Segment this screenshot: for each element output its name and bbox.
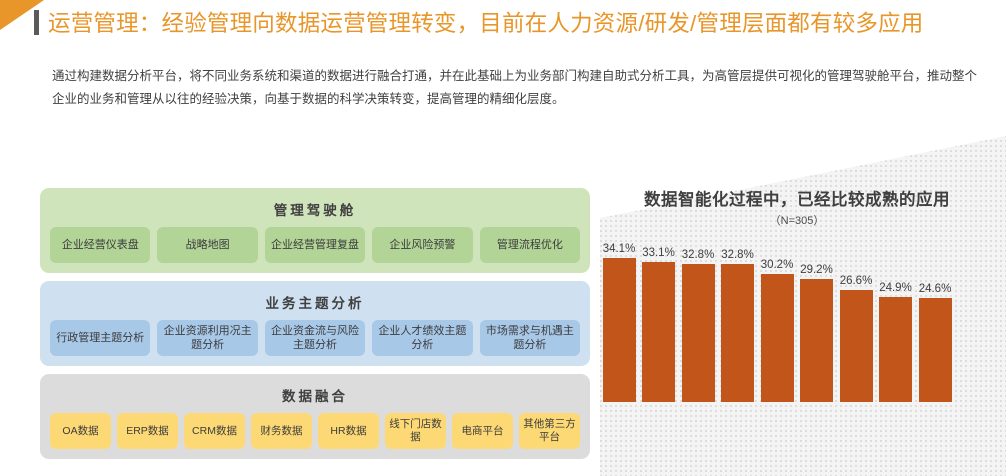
band-title: 管理驾驶舱 — [50, 195, 580, 227]
chip-item[interactable]: CRM数据 — [184, 413, 245, 449]
bar-value-label: 32.8% — [682, 249, 715, 261]
chip-item[interactable]: 市场需求与机遇主题分析 — [480, 320, 580, 356]
chip-item[interactable]: 财务数据 — [251, 413, 312, 449]
chart-plot-area: 34.1%33.1%32.8%32.8%30.2%29.2%26.6%24.9%… — [596, 202, 998, 402]
bar-rect[interactable] — [800, 279, 833, 402]
diagram-band-data-fusion: 数据融合 OA数据 ERP数据 CRM数据 财务数据 HR数据 线下门店数据 电… — [40, 374, 590, 459]
bar-value-label: 34.1% — [603, 243, 636, 255]
bar-rect[interactable] — [642, 262, 675, 402]
chip-item[interactable]: 企业资源利用况主题分析 — [157, 320, 257, 356]
chip-item[interactable]: 电商平台 — [452, 413, 513, 449]
bar-column[interactable]: 29.2% — [799, 202, 835, 402]
bar-rect[interactable] — [682, 264, 715, 403]
chip-item[interactable]: OA数据 — [50, 413, 111, 449]
bar-rect[interactable] — [761, 274, 794, 402]
header-accent-bar — [34, 10, 39, 35]
chip-item[interactable]: ERP数据 — [117, 413, 178, 449]
chip-item[interactable]: 企业经营管理复盘 — [265, 227, 365, 263]
bar-value-label: 26.6% — [840, 275, 873, 287]
bar-value-label: 32.8% — [721, 249, 754, 261]
bar-rect[interactable] — [721, 264, 754, 403]
bar-column[interactable]: 32.8% — [680, 202, 716, 402]
bar-column[interactable]: 24.6% — [917, 202, 953, 402]
bar-chart: 数据智能化过程中，已经比较成熟的应用 （N=305） 34.1%33.1%32.… — [596, 186, 998, 466]
bar-rect[interactable] — [879, 297, 912, 402]
bar-value-label: 24.6% — [919, 283, 952, 295]
architecture-diagram: 管理驾驶舱 企业经营仪表盘 战略地图 企业经营管理复盘 企业风险预警 管理流程优… — [40, 188, 590, 467]
band-chip-row: 行政管理主题分析 企业资源利用况主题分析 企业资金流与风险主题分析 企业人才绩效… — [50, 320, 580, 356]
chip-item[interactable]: 企业资金流与风险主题分析 — [265, 320, 365, 356]
bar-column[interactable]: 33.1% — [641, 202, 677, 402]
bar-value-label: 33.1% — [642, 247, 675, 259]
body-paragraph: 通过构建数据分析平台，将不同业务系统和渠道的数据进行融合打通，并在此基础上为业务… — [52, 65, 977, 111]
band-chip-row: 企业经营仪表盘 战略地图 企业经营管理复盘 企业风险预警 管理流程优化 — [50, 227, 580, 263]
diagram-band-business-analysis: 业务主题分析 行政管理主题分析 企业资源利用况主题分析 企业资金流与风险主题分析… — [40, 281, 590, 366]
chip-item[interactable]: 行政管理主题分析 — [50, 320, 150, 356]
band-chip-row: OA数据 ERP数据 CRM数据 财务数据 HR数据 线下门店数据 电商平台 其… — [50, 413, 580, 449]
band-title: 业务主题分析 — [50, 288, 580, 320]
band-title: 数据融合 — [50, 381, 580, 413]
bar-column[interactable]: 24.9% — [878, 202, 914, 402]
bar-value-label: 29.2% — [800, 264, 833, 276]
bar-column[interactable]: 34.1% — [601, 202, 637, 402]
slide-canvas: 运营管理：经验管理向数据运营管理转变，目前在人力资源/研发/管理层面都有较多应用… — [0, 0, 1006, 476]
chip-item[interactable]: 战略地图 — [157, 227, 257, 263]
chip-item[interactable]: 管理流程优化 — [480, 227, 580, 263]
diagram-band-cockpit: 管理驾驶舱 企业经营仪表盘 战略地图 企业经营管理复盘 企业风险预警 管理流程优… — [40, 188, 590, 273]
chip-item[interactable]: 企业风险预警 — [372, 227, 472, 263]
chip-item[interactable]: 企业经营仪表盘 — [50, 227, 150, 263]
bar-rect[interactable] — [919, 298, 952, 402]
bar-column[interactable]: 26.6% — [838, 202, 874, 402]
bar-value-label: 30.2% — [761, 259, 794, 271]
page-title: 运营管理：经验管理向数据运营管理转变，目前在人力资源/研发/管理层面都有较多应用 — [48, 6, 924, 38]
bar-value-label: 24.9% — [879, 282, 912, 294]
chip-item[interactable]: HR数据 — [318, 413, 379, 449]
bar-rect[interactable] — [603, 258, 636, 402]
bar-column[interactable]: 30.2% — [759, 202, 795, 402]
page-header: 运营管理：经验管理向数据运营管理转变，目前在人力资源/研发/管理层面都有较多应用 — [34, 6, 924, 38]
bar-column[interactable]: 32.8% — [720, 202, 756, 402]
chip-item[interactable]: 其他第三方平台 — [519, 413, 580, 449]
bar-rect[interactable] — [840, 290, 873, 402]
chip-item[interactable]: 线下门店数据 — [385, 413, 446, 449]
chip-item[interactable]: 企业人才绩效主题分析 — [372, 320, 472, 356]
